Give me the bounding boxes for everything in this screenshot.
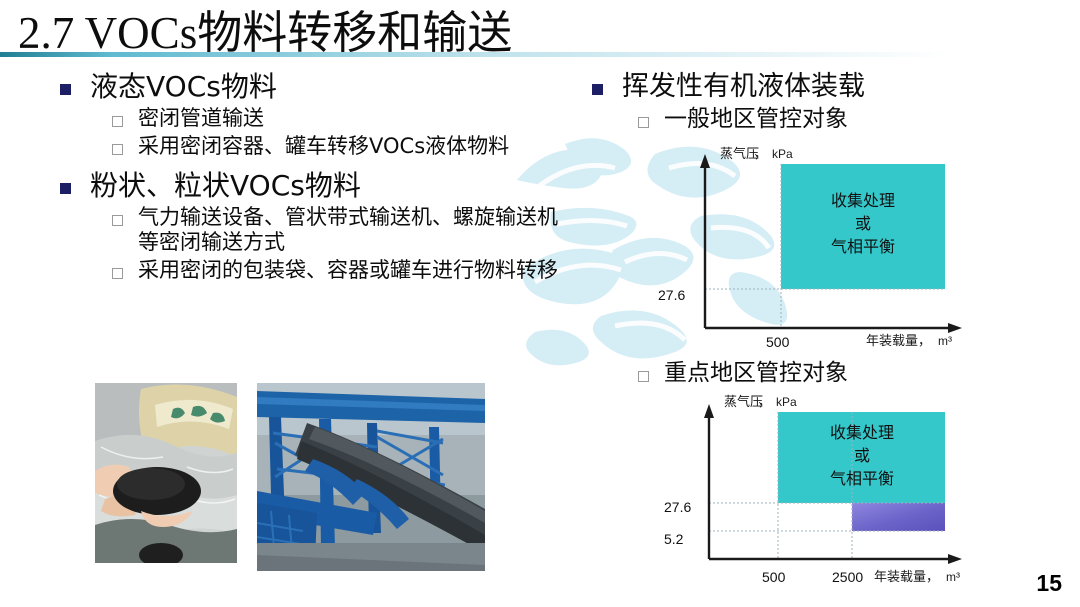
y-tick-27-6: 27.6 [664,499,691,515]
right-second-subheading-block: 重点地区管控对象 [592,357,1062,387]
region-label-line-2: 或 [854,446,870,465]
list-item: 重点地区管控对象 [638,360,1062,387]
hollow-square-bullet-icon [638,371,649,382]
y-tick-5-2: 5.2 [664,531,684,547]
square-bullet-icon [592,84,603,95]
x-axis-arrow-icon [948,554,962,564]
sub-bullet-text: 重点地区管控对象 [664,360,848,387]
right-content-column: 挥发性有机液体装载 一般地区管控对象 [592,68,1062,133]
list-item: 采用密闭的包装袋、容器或罐车进行物料转移 [112,258,560,283]
chart-key-area: 蒸气压 ， kPa 27.6 5.2 500 2500 年装载量 ， m³ 收集… [650,392,980,597]
region-label-line-2: 或 [855,214,871,233]
sub-bullet-text: 密闭管道输送 [138,106,264,131]
x-axis-label: 年装载量 [874,570,926,585]
y-axis-unit: kPa [772,147,793,161]
y-axis-arrow-icon [700,154,710,168]
x-axis-unit: m³ [946,570,960,584]
chart-general-area: 蒸气压 ， kPa 27.6 500 年装载量 ， m³ 收集处理 或 气相平衡 [650,142,980,347]
region-label-line-1: 收集处理 [830,423,894,442]
square-bullet-icon [60,183,71,194]
y-axis-unit: kPa [776,395,797,409]
bullet-heading: 挥发性有机液体装载 [622,70,865,103]
sub-bullet-text: 气力输送设备、管状带式输送机、螺旋输送机等密闭输送方式 [138,205,560,255]
hollow-square-bullet-icon [112,116,123,127]
hollow-square-bullet-icon [638,117,649,128]
sub-bullet-list-liquid: 密闭管道输送 采用密闭容器、罐车转移VOCs液体物料 [112,106,560,159]
x-tick-500: 500 [762,569,786,585]
slide-root: 2.7 VOCs物料转移和输送 液态VOCs物料 密闭管道输送 采用密闭容器、罐… [0,0,1080,607]
region-label-line-1: 收集处理 [831,191,895,210]
region-purple-band [852,503,945,531]
bullet-heading: 粉状、粒状VOCs物料 [90,169,361,202]
bullet-group-powder-vocs: 粉状、粒状VOCs物料 [60,169,560,202]
sub-bullet-key-area: 重点地区管控对象 [638,360,1062,387]
list-item: 一般地区管控对象 [638,106,1062,133]
y-axis-comma: ， [754,147,767,162]
hollow-square-bullet-icon [112,215,123,226]
x-axis-arrow-icon [948,323,962,333]
y-tick-27-6: 27.6 [658,287,685,303]
sub-bullet-text: 一般地区管控对象 [664,106,848,133]
photo-tube-belt-conveyor [257,383,485,571]
sub-bullet-text: 采用密闭容器、罐车转移VOCs液体物料 [138,134,509,159]
left-content-column: 液态VOCs物料 密闭管道输送 采用密闭容器、罐车转移VOCs液体物料 粉状、粒… [60,68,560,283]
list-item: 气力输送设备、管状带式输送机、螺旋输送机等密闭输送方式 [112,205,560,255]
x-axis-comma: ， [918,334,931,347]
list-item: 采用密闭容器、罐车转移VOCs液体物料 [112,134,560,159]
photo-packaged-material [95,383,237,563]
page-number: 15 [1036,570,1062,597]
title-divider [0,52,1080,57]
x-axis-label: 年装载量 [866,334,918,347]
y-axis-arrow-icon [704,404,714,418]
hollow-square-bullet-icon [112,144,123,155]
x-tick-2500: 2500 [832,569,863,585]
x-axis-unit: m³ [938,334,952,347]
x-axis-comma: ， [926,570,939,585]
sub-bullet-text: 采用密闭的包装袋、容器或罐车进行物料转移 [138,258,558,283]
region-label-line-3: 气相平衡 [830,469,894,488]
list-item: 密闭管道输送 [112,106,560,131]
x-tick-500: 500 [766,334,790,347]
bullet-heading: 液态VOCs物料 [90,70,277,103]
bullet-group-voc-loading: 挥发性有机液体装载 [592,70,1062,103]
region-label-line-3: 气相平衡 [831,237,895,256]
y-axis-comma: ， [758,395,771,410]
hollow-square-bullet-icon [112,268,123,279]
sub-bullet-general-area: 一般地区管控对象 [638,106,1062,133]
square-bullet-icon [60,84,71,95]
sub-bullet-list-powder: 气力输送设备、管状带式输送机、螺旋输送机等密闭输送方式 采用密闭的包装袋、容器或… [112,205,560,283]
bullet-group-liquid-vocs: 液态VOCs物料 [60,70,560,103]
